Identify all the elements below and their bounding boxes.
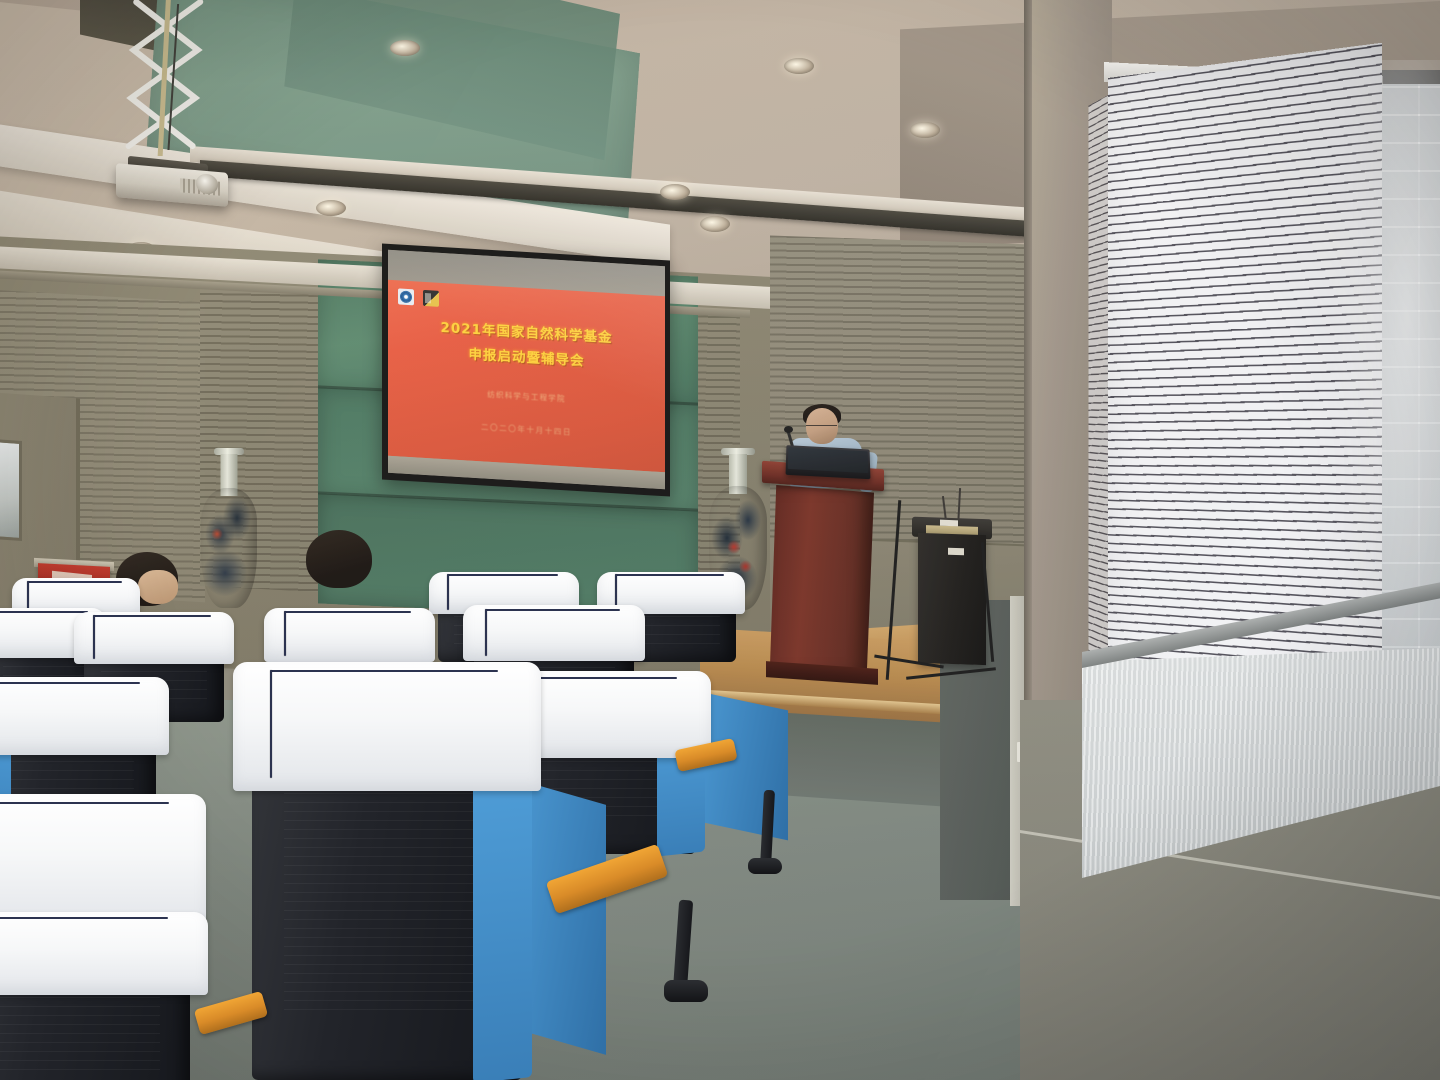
nsfc-emblem-logo-icon <box>398 288 414 305</box>
chair-cover <box>463 605 645 661</box>
chair-foot <box>748 858 782 874</box>
door-vision-panel <box>0 439 22 541</box>
conference-room-photo: 2021年国家自然科学基金 申报启动暨辅导会 纺织科学与工程学院 二〇二〇年十月… <box>0 0 1440 1080</box>
slide-logo-group <box>398 288 439 306</box>
chair-piping <box>0 917 168 919</box>
chair-cover <box>74 612 234 664</box>
chair-cover <box>0 912 208 995</box>
attendee-left-face <box>138 570 178 604</box>
downlight-icon <box>390 40 420 56</box>
chair-piping <box>0 682 140 684</box>
projection-screen: 2021年国家自然科学基金 申报启动暨辅导会 纺织科学与工程学院 二〇二〇年十月… <box>382 243 670 496</box>
chair-row1-seat0[interactable] <box>0 930 190 1080</box>
chair-piping <box>0 802 169 804</box>
chair-cover <box>0 794 206 929</box>
laptop-icon[interactable] <box>786 445 871 479</box>
chair-cover <box>233 662 541 791</box>
chair-seat-side <box>473 780 532 1080</box>
lectern <box>762 465 884 685</box>
lectern-body <box>770 485 874 675</box>
chair-cover <box>264 608 435 662</box>
chair-piping <box>270 670 272 779</box>
slide-date: 二〇二〇年十月十四日 <box>388 416 665 443</box>
chair-piping <box>27 581 121 583</box>
screen-surface: 2021年国家自然科学基金 申报启动暨辅导会 纺织科学与工程学院 二〇二〇年十月… <box>388 250 665 489</box>
chair-piping <box>447 574 558 576</box>
porcelain-floor-vase-left <box>198 448 260 608</box>
chair-piping <box>485 609 487 656</box>
attendee-center-head <box>306 530 372 588</box>
chair-row1-seat2[interactable] <box>252 700 522 1080</box>
microphone-icon <box>784 426 793 433</box>
downlight-icon <box>910 122 940 138</box>
chair-foot <box>664 980 708 1002</box>
chair-piping <box>485 609 620 611</box>
downlight-icon <box>316 200 346 216</box>
presentation-slide: 2021年国家自然科学基金 申报启动暨辅导会 纺织科学与工程学院 二〇二〇年十月… <box>388 280 665 472</box>
university-logo-icon <box>423 290 439 307</box>
chair-piping <box>93 615 95 659</box>
equipment-label <box>948 548 964 556</box>
pillar-edge <box>1024 0 1032 720</box>
downlight-icon <box>660 184 690 200</box>
equipment-label <box>940 520 958 527</box>
slide-title-block: 2021年国家自然科学基金 申报启动暨辅导会 <box>388 313 665 379</box>
chair-piping <box>0 611 88 613</box>
downlight-icon <box>784 58 814 74</box>
chair-piping <box>93 615 211 617</box>
glasses-icon <box>806 425 837 430</box>
chair-piping <box>447 574 449 610</box>
downlight-icon <box>700 216 730 232</box>
slide-organization: 纺织科学与工程学院 <box>388 383 665 410</box>
chair-piping <box>284 611 286 656</box>
laptop-screen <box>788 447 869 473</box>
vase-body <box>201 488 257 608</box>
projector-lift-icon <box>114 0 215 165</box>
chair-piping <box>270 670 498 672</box>
chair-cover <box>0 677 169 755</box>
chair-piping <box>284 611 411 613</box>
chair-piping <box>615 574 725 576</box>
